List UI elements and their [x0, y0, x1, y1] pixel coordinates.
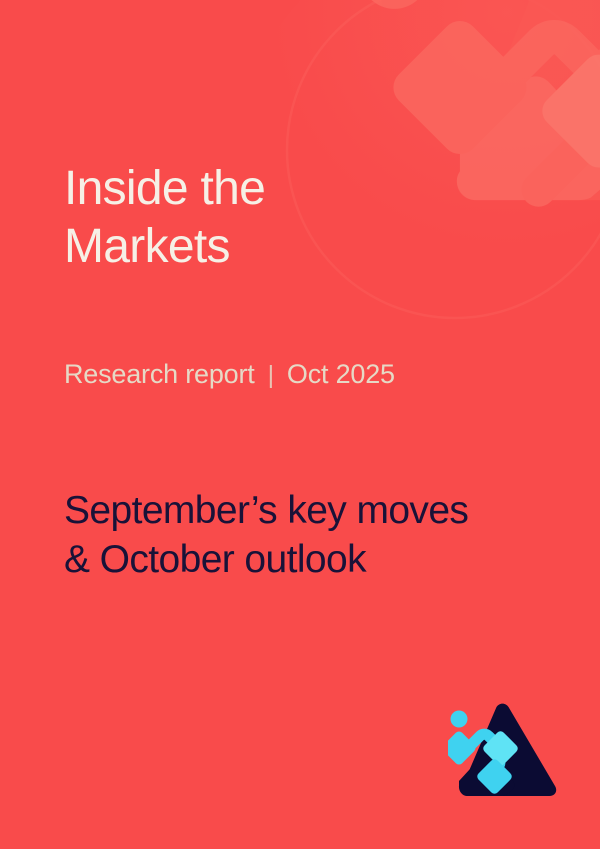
brand-logo-icon [448, 702, 560, 797]
report-date-label: Oct 2025 [287, 356, 395, 392]
meta-separator: | [268, 357, 274, 393]
report-cover-page: Inside the Markets Research report | Oct… [0, 0, 600, 849]
report-type-label: Research report [64, 356, 255, 392]
logo-circle-dot [451, 711, 468, 728]
cover-headline: September’s key moves & October outlook [64, 486, 564, 584]
page-title: Inside the Markets [64, 160, 544, 276]
report-meta: Research report | Oct 2025 [64, 356, 564, 393]
